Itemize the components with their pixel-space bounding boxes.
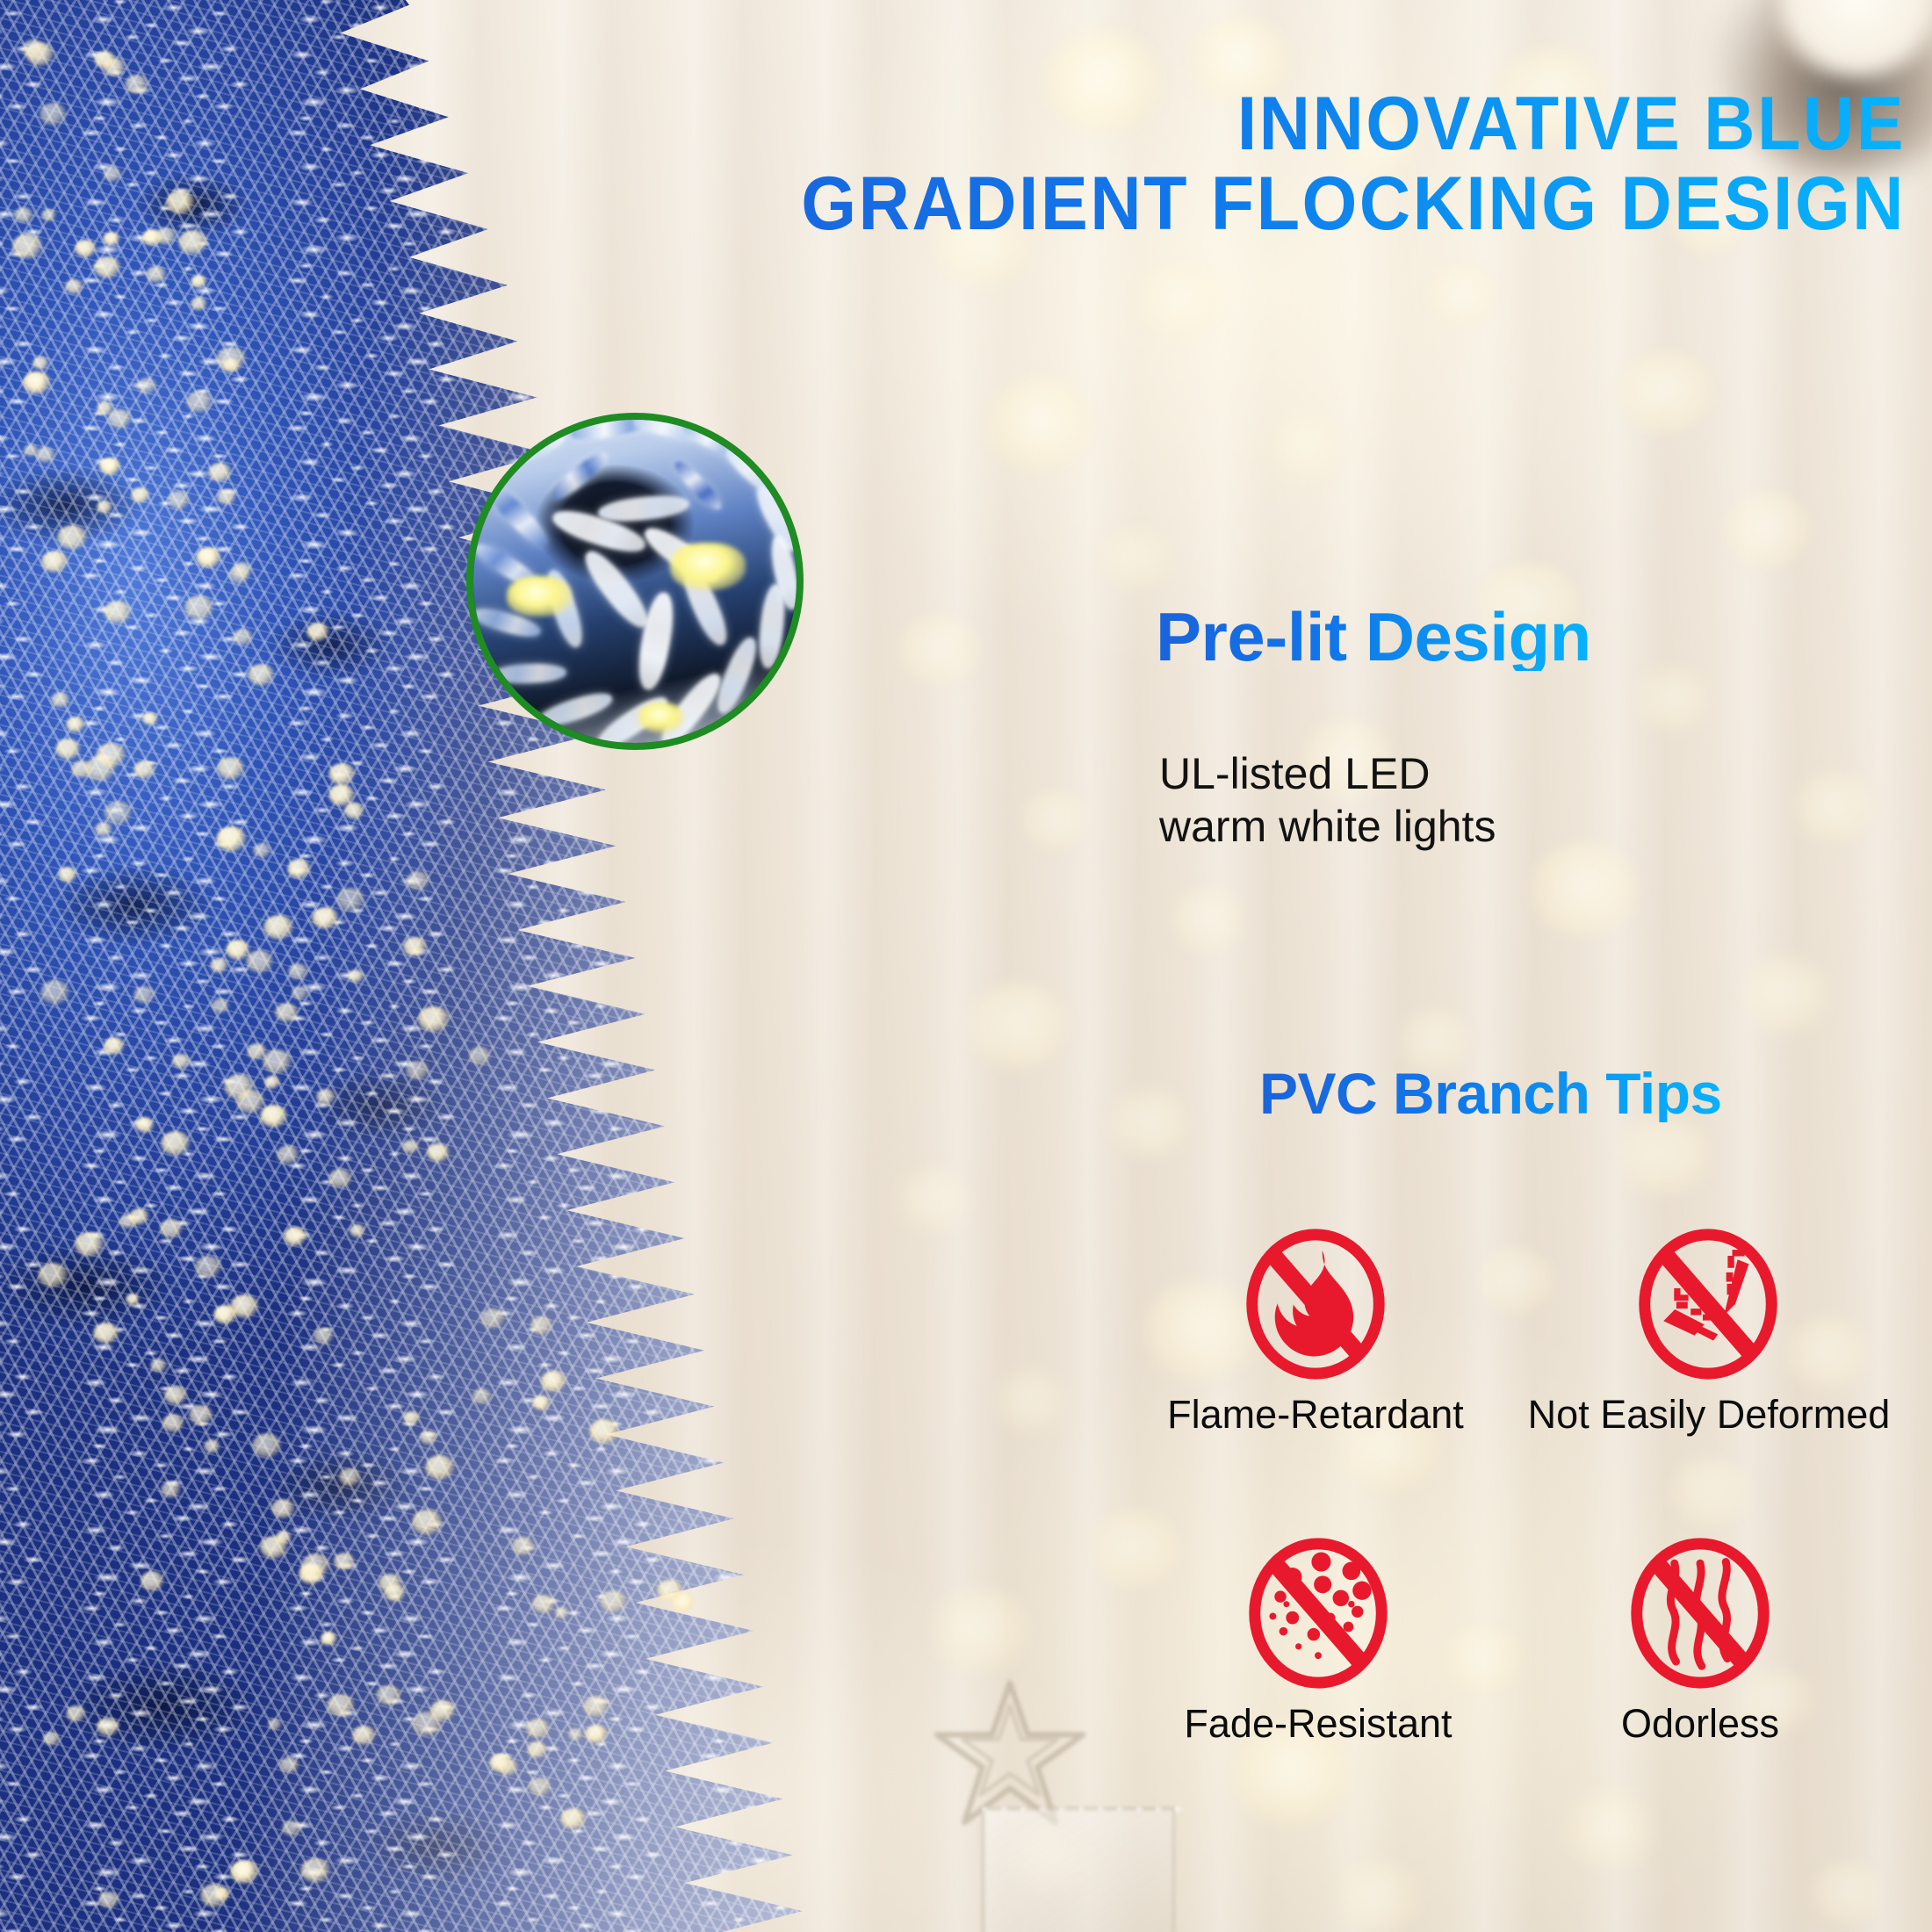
prelit-design-heading: Pre-lit Design [1156,602,1591,671]
led-bulb [406,1061,429,1080]
led-bulb [12,234,43,259]
led-bulb [583,1696,609,1717]
led-bulb [186,391,213,413]
led-bulb [184,595,214,620]
led-bulb [253,843,271,858]
led-bulb [97,1718,119,1736]
led-bulb [14,207,33,223]
led-bulb [284,1227,306,1246]
led-bulb [133,761,155,779]
feature-label: Fade-Resistant [1184,1704,1452,1743]
led-bulb [97,401,113,415]
led-bulb [94,51,116,68]
led-bulb [328,1169,352,1188]
led-bulb [85,756,116,782]
led-bulb [66,1705,86,1722]
led-bulb [271,1499,295,1518]
led-bulb [66,717,85,732]
led-bulb [312,907,339,929]
led-bulb [480,1308,505,1329]
led-bulb [420,1431,437,1445]
led-bulb [268,1719,282,1730]
led-bulb [93,1323,119,1344]
led-bulb [38,1263,68,1287]
led-bulb [321,1632,337,1646]
led-bulb [314,1328,334,1344]
led-bulb [403,937,427,956]
no-flame-icon [1240,1222,1391,1386]
led-bulb [350,1224,365,1237]
led-bulb [55,739,81,760]
led-bulb [164,1386,187,1405]
led-bulb [58,867,77,883]
led-bulb [600,1590,627,1612]
led-bulb [104,1037,125,1055]
led-bulb [119,1215,137,1229]
feature-item-odorless: Odorless [1498,1532,1867,1841]
led-bulb [189,1405,213,1425]
flocked-needle [548,447,612,504]
magnified-branch-callout [466,413,804,750]
led-bulb [306,623,329,641]
led-bulb [161,1481,181,1498]
led-bulb [95,822,112,837]
led-bulb [276,1531,292,1544]
led-bulb [263,915,294,940]
led-bulb [532,1395,551,1410]
flocked-needle [597,493,690,525]
pvc-branch-tips-heading: PVC Branch Tips [1259,1064,1722,1122]
led-bulb [168,491,190,509]
page-title: INNOVATIVE BLUE GRADIENT FLOCKING DESIGN [660,84,1906,244]
no-fade-icon [1243,1532,1394,1695]
led-bulb [204,1439,220,1453]
led-bulb [51,692,70,708]
led-bulb [328,763,356,785]
led-bulb [385,1584,406,1602]
led-bulb [530,1316,552,1335]
tree-frosted-tips [0,0,852,1932]
led-bulb [532,1595,555,1613]
led-bulb [248,664,275,686]
led-bulb [146,266,167,283]
led-bulb [213,1305,237,1324]
christmas-tree [0,0,896,1932]
led-bulb [150,1359,167,1373]
led-bulb [212,998,229,1013]
feature-label: Flame-Retardant [1167,1395,1464,1434]
led-bulb [23,371,51,394]
led-bulb [585,1725,608,1743]
led-bulb [336,888,365,912]
led-bulb [135,1117,155,1133]
led-bulb [65,279,83,294]
led-bulb [137,378,157,394]
led-bulb [104,601,132,624]
feature-label: Not Easily Deformed [1528,1395,1891,1434]
led-bulb [191,275,207,288]
led-bulb [200,1884,228,1907]
led-bulb [407,871,429,890]
led-bulb [57,525,88,550]
led-bulb [222,358,240,372]
led-bulb [104,801,133,825]
led-bulb [529,1777,551,1796]
led-bulb [22,40,45,58]
led-bulb [555,1607,569,1618]
led-bulb [40,980,70,1005]
led-bulb [217,757,245,780]
led-bulb [104,167,121,182]
no-deform-icon [1633,1222,1784,1386]
callout-led-bulb [638,703,684,732]
led-bulb [172,1054,191,1069]
led-bulb [32,357,49,370]
led-bulb [216,826,247,852]
led-bulb [131,487,150,503]
flocked-needle [756,583,788,669]
led-bulb [75,1232,105,1257]
led-bulb [292,986,308,1000]
feature-item-not-easily-deformed: Not Easily Deformed [1498,1222,1867,1532]
callout-photo [466,413,804,750]
led-bulb [125,75,148,94]
led-bulb [247,1043,267,1060]
led-bulb [430,1700,456,1720]
led-bulb [98,1892,119,1908]
led-bulb [277,1145,299,1164]
led-bulb [155,227,177,245]
led-bulb [196,547,221,568]
led-bulb [334,1553,355,1570]
callout-led-bulb [670,543,746,590]
led-bulb [287,859,311,879]
led-bulb [541,1371,566,1392]
feature-item-fade-resistant: Fade-Resistant [1129,1532,1498,1841]
led-bulb [344,803,364,819]
led-bulb [41,551,68,573]
led-bulb [316,1089,335,1105]
led-bulb [489,1754,512,1772]
led-bulb [99,458,121,475]
led-bulb [657,1580,683,1601]
led-bulb [191,297,207,311]
led-bulb [418,1006,450,1032]
tree-foliage [0,0,852,1932]
pvc-feature-grid: Flame-Retardant [1129,1222,1867,1841]
prelit-design-subtitle: UL-listed LED warm white lights [1159,748,1496,853]
led-bulb [282,1820,301,1836]
led-bulb [568,1728,583,1741]
feature-item-flame-retardant: Flame-Retardant [1129,1222,1498,1532]
flocked-needle [483,480,553,551]
led-bulb [141,1571,164,1591]
led-bulb [376,1685,401,1705]
flocked-needle [578,544,656,634]
led-bulb [526,1719,550,1738]
led-bulb [327,1694,355,1717]
led-bulb [352,1726,376,1745]
led-bulb [161,1131,191,1156]
led-bulb [94,256,121,278]
led-bulb [300,1858,331,1883]
led-bulb [230,1860,259,1884]
led-bulb [263,1049,292,1074]
led-bulb [233,629,253,645]
led-bulb [41,209,56,221]
led-bulb [560,1808,586,1829]
led-bulb [275,1003,299,1022]
led-bulb [472,1388,492,1404]
flocked-needle [493,663,567,685]
led-bulb [348,970,364,983]
product-feature-graphic: INNOVATIVE BLUE GRADIENT FLOCKING DESIGN… [0,0,1932,1932]
led-bulb [527,1741,547,1758]
led-bulb [97,501,112,514]
led-bulb [264,1076,280,1089]
led-bulb [469,1047,491,1065]
led-bulb [142,712,158,725]
led-bulb [246,950,274,973]
led-bulb [36,447,55,463]
led-bulb [412,1510,443,1535]
led-bulb [160,1219,183,1238]
led-bulb [166,191,195,214]
led-bulb [210,958,228,973]
led-bulb [288,963,308,980]
led-bulb [252,1433,282,1458]
feature-label: Odorless [1621,1704,1779,1743]
led-bulb [103,232,120,246]
led-bulb [279,1757,299,1773]
led-bulb [402,1140,419,1153]
led-bulb [224,1074,255,1099]
led-bulb [43,1732,60,1746]
led-bulb [301,1554,330,1577]
led-bulb [178,230,208,255]
led-bulb [226,940,250,960]
no-odor-icon [1625,1532,1776,1695]
led-bulb [512,1537,534,1555]
led-bulb [427,1143,450,1162]
led-bulb [589,1419,619,1444]
callout-led-bulb [507,576,572,616]
led-bulb [75,240,97,257]
led-bulb [403,1411,420,1424]
led-bulb [260,1105,288,1128]
flocked-needle [535,688,615,732]
led-bulb [133,986,155,1004]
led-bulb [195,1256,222,1278]
headline-line-1: INNOVATIVE BLUE [660,84,1906,164]
led-bulb [339,1468,361,1486]
headline-line-2: GRADIENT FLOCKING DESIGN [660,164,1906,244]
led-bulb [40,103,67,126]
led-bulb [233,562,252,578]
led-bulb [217,489,236,505]
led-bulb [126,1294,140,1305]
led-bulb [425,1455,455,1480]
led-bulb [208,463,232,482]
led-bulb [162,1414,184,1432]
